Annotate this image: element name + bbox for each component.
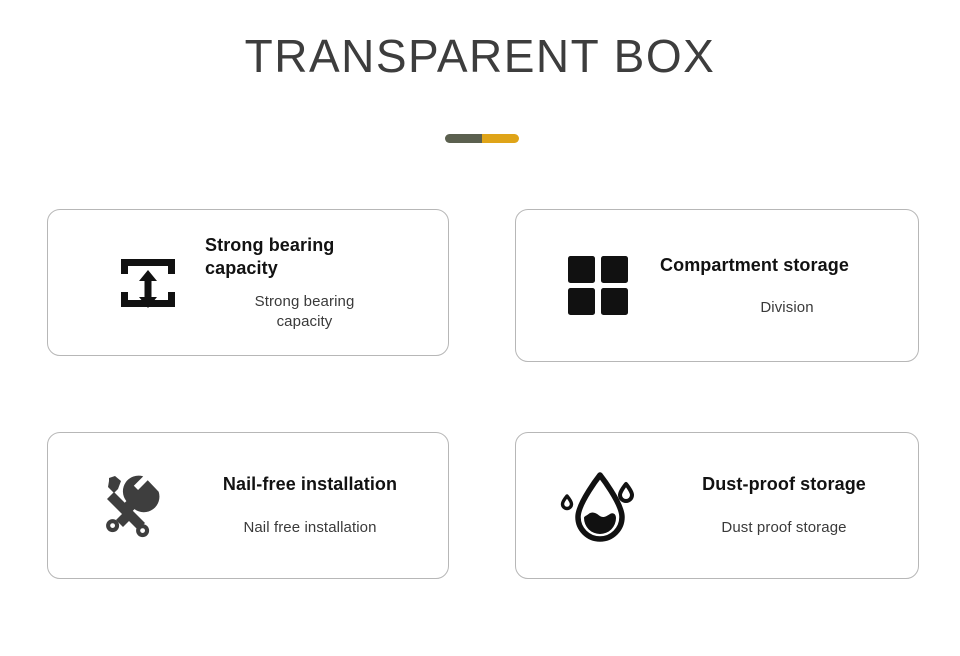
card-subtitle: Nail free installation xyxy=(243,518,376,538)
card-title: Dust-proof storage xyxy=(702,473,866,496)
divider-segment-right xyxy=(482,134,519,143)
bearing-capacity-icon xyxy=(93,251,203,315)
card-text-block: Compartment storage Division xyxy=(654,254,918,318)
grid-compartment-icon xyxy=(544,256,654,316)
divider-segment-left xyxy=(445,134,482,143)
page-title: TRANSPARENT BOX xyxy=(0,30,960,83)
card-text-block: Strong bearing capacity Strong bearing c… xyxy=(203,234,448,331)
card-subtitle: Division xyxy=(760,298,813,318)
card-subtitle: Dust proof storage xyxy=(721,518,846,538)
title-divider xyxy=(445,134,519,143)
feature-card-grid: Strong bearing capacity Strong bearing c… xyxy=(47,209,919,579)
feature-card-dust-proof-storage[interactable]: Dust-proof storage Dust proof storage xyxy=(515,432,919,579)
feature-card-nail-free-installation[interactable]: Nail-free installation Nail free install… xyxy=(47,432,449,579)
card-text-block: Nail-free installation Nail free install… xyxy=(186,473,448,538)
card-text-block: Dust-proof storage Dust proof storage xyxy=(654,473,918,538)
card-title: Compartment storage xyxy=(660,254,849,277)
transparent-box-feature-page: TRANSPARENT BOX Strong bearing ca xyxy=(0,0,960,656)
feature-card-compartment-storage[interactable]: Compartment storage Division xyxy=(515,209,919,362)
card-title: Nail-free installation xyxy=(223,473,397,496)
wrench-screwdriver-icon xyxy=(76,470,186,542)
feature-card-strong-bearing-capacity[interactable]: Strong bearing capacity Strong bearing c… xyxy=(47,209,449,356)
card-title: Strong bearing capacity xyxy=(205,234,365,280)
water-droplet-icon xyxy=(544,467,654,545)
card-subtitle: Strong bearing capacity xyxy=(230,292,380,331)
